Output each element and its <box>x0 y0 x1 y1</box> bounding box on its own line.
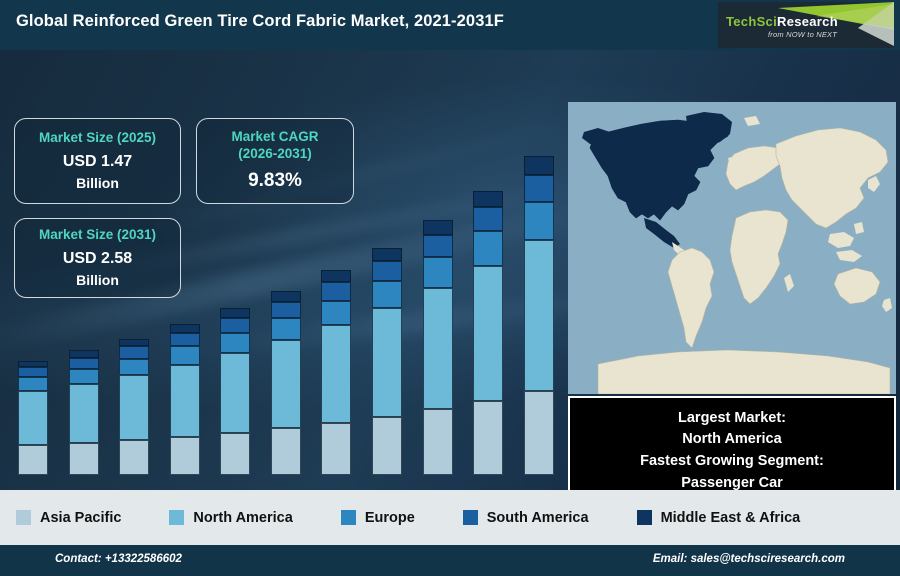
stacked-bar <box>119 339 149 475</box>
bar-segment-south-america <box>220 318 250 333</box>
bar-segment-middle-east-africa <box>321 270 351 282</box>
bar-segment-middle-east-africa <box>423 220 453 235</box>
bar-segment-north-america <box>170 365 200 437</box>
bar-column-2027f <box>312 135 360 475</box>
footer-contact: Contact: +13322586602 <box>55 553 182 565</box>
bar-segment-north-america <box>321 325 351 423</box>
bar-segment-europe <box>170 346 200 365</box>
bar-segment-europe <box>473 231 503 266</box>
legend-item-asia-pacific[interactable]: Asia Pacific <box>16 510 121 526</box>
logo-wordmark: TechSciResearch <box>726 14 838 29</box>
bar-segment-south-america <box>524 175 554 202</box>
bar-segment-asia-pacific <box>18 445 48 475</box>
legend-item-north-america[interactable]: North America <box>169 510 292 526</box>
stacked-bar <box>524 156 554 475</box>
bar-segment-europe <box>119 359 149 375</box>
bar-segment-south-america <box>423 235 453 257</box>
stacked-bar <box>170 324 200 475</box>
bar-segment-asia-pacific <box>473 401 503 475</box>
bar-segment-asia-pacific <box>372 417 402 475</box>
footer-email: Email: sales@techsciresearch.com <box>653 553 845 565</box>
bar-segment-asia-pacific <box>220 433 250 475</box>
bar-segment-middle-east-africa <box>473 191 503 207</box>
bar-column-2023 <box>110 135 158 475</box>
bar-segment-north-america <box>220 353 250 433</box>
bar-column-2029f <box>414 135 462 475</box>
legend-label: Asia Pacific <box>40 510 121 526</box>
legend-label: North America <box>193 510 292 526</box>
footer-bar: Contact: +13322586602 Email: sales@techs… <box>0 545 900 576</box>
bar-segment-asia-pacific <box>524 391 554 475</box>
legend-label: Middle East & Africa <box>661 510 801 526</box>
bar-segment-europe <box>18 377 48 391</box>
chart-bars <box>8 135 564 475</box>
bar-segment-south-america <box>170 333 200 347</box>
bar-segment-asia-pacific <box>423 409 453 475</box>
logo-brand-secondary: Research <box>777 14 838 29</box>
page-title: Global Reinforced Green Tire Cord Fabric… <box>16 12 504 31</box>
bar-segment-europe <box>372 281 402 308</box>
bar-column-2024 <box>161 135 209 475</box>
world-map-svg <box>568 102 896 394</box>
bar-column-2031f <box>515 135 563 475</box>
main-stage: Market Size (2025) USD 1.47 Billion Mark… <box>0 50 900 490</box>
legend-label: Europe <box>365 510 415 526</box>
fastest-segment-value: Passenger Car <box>681 473 783 490</box>
bar-segment-south-america <box>473 207 503 232</box>
stacked-bar <box>69 350 99 475</box>
bar-segment-europe <box>524 202 554 240</box>
fastest-segment-label: Fastest Growing Segment: <box>640 451 824 473</box>
bar-segment-europe <box>220 333 250 353</box>
bar-segment-middle-east-africa <box>372 248 402 262</box>
largest-market-label: Largest Market: <box>678 408 786 430</box>
bar-segment-south-america <box>372 261 402 281</box>
bar-segment-europe <box>321 301 351 326</box>
bar-segment-middle-east-africa <box>119 339 149 346</box>
stacked-bar <box>321 270 351 475</box>
legend-item-middle-east-africa[interactable]: Middle East & Africa <box>637 510 801 526</box>
bar-segment-middle-east-africa <box>524 156 554 175</box>
stacked-bar-chart: 202120222023202420252026E2027F2028F2029F… <box>8 110 564 475</box>
world-map <box>568 102 896 394</box>
bar-segment-north-america <box>372 308 402 417</box>
bar-segment-south-america <box>18 367 48 377</box>
header-bar: Global Reinforced Green Tire Cord Fabric… <box>0 0 900 50</box>
bar-segment-asia-pacific <box>119 440 149 475</box>
bar-segment-south-america <box>69 358 99 369</box>
bar-segment-middle-east-africa <box>170 324 200 333</box>
bar-segment-asia-pacific <box>271 428 301 475</box>
legend-swatch-icon <box>341 510 356 525</box>
bar-column-2021 <box>9 135 57 475</box>
bar-column-2030f <box>464 135 512 475</box>
bar-segment-north-america <box>119 375 149 441</box>
bar-segment-north-america <box>69 384 99 443</box>
bar-segment-south-america <box>271 302 301 318</box>
bar-segment-north-america <box>524 240 554 391</box>
stacked-bar <box>473 191 503 475</box>
bar-segment-north-america <box>271 340 301 428</box>
legend-swatch-icon <box>169 510 184 525</box>
bar-segment-south-america <box>119 346 149 358</box>
bar-segment-middle-east-africa <box>69 350 99 357</box>
techsci-logo: TechSciResearch from NOW to NEXT <box>718 2 894 48</box>
legend-swatch-icon <box>463 510 478 525</box>
bar-segment-north-america <box>423 288 453 409</box>
bar-segment-north-america <box>18 391 48 445</box>
stacked-bar <box>423 220 453 475</box>
bar-column-2022 <box>60 135 108 475</box>
legend-item-europe[interactable]: Europe <box>341 510 415 526</box>
legend-item-south-america[interactable]: South America <box>463 510 589 526</box>
bar-segment-asia-pacific <box>170 437 200 475</box>
bar-column-2028f <box>363 135 411 475</box>
bar-column-2026e <box>262 135 310 475</box>
logo-tagline: from NOW to NEXT <box>768 30 837 39</box>
bar-segment-asia-pacific <box>69 443 99 475</box>
stacked-bar <box>372 248 402 475</box>
legend-swatch-icon <box>16 510 31 525</box>
bar-segment-middle-east-africa <box>220 308 250 318</box>
bar-segment-asia-pacific <box>321 423 351 475</box>
legend-label: South America <box>487 510 589 526</box>
stacked-bar <box>220 308 250 475</box>
legend-swatch-icon <box>637 510 652 525</box>
logo-brand-primary: TechSci <box>726 14 777 29</box>
bar-segment-middle-east-africa <box>271 291 301 302</box>
bar-segment-europe <box>423 257 453 288</box>
key-insights-box: Largest Market: North America Fastest Gr… <box>568 396 896 490</box>
bar-segment-north-america <box>473 266 503 401</box>
bar-segment-europe <box>69 369 99 384</box>
stacked-bar <box>271 291 301 475</box>
stacked-bar <box>18 361 48 475</box>
bar-segment-europe <box>271 318 301 340</box>
chart-legend: Asia PacificNorth AmericaEuropeSouth Ame… <box>0 490 900 545</box>
bar-segment-south-america <box>321 282 351 301</box>
largest-market-value: North America <box>682 429 781 451</box>
infographic-page: Global Reinforced Green Tire Cord Fabric… <box>0 0 900 576</box>
bar-column-2025 <box>211 135 259 475</box>
